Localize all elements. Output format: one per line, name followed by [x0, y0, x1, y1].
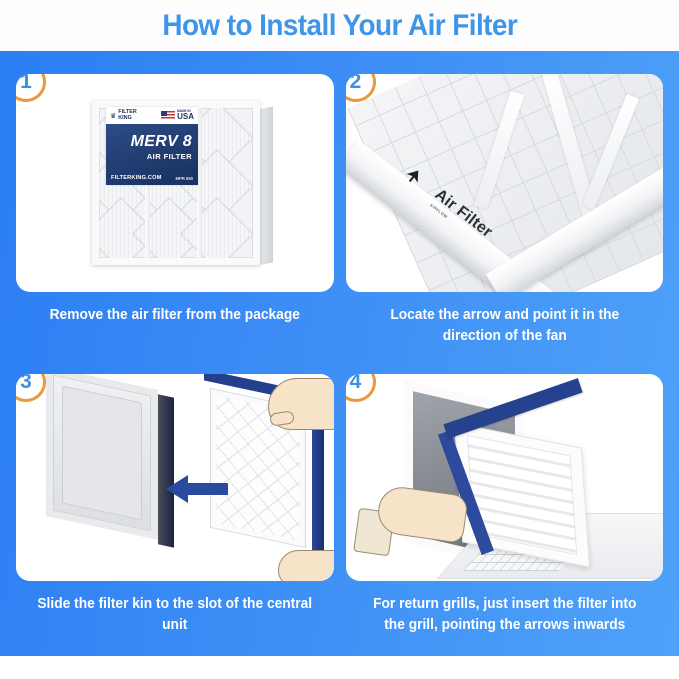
step-3-caption: Slide the filter kin to the slot of the …	[24, 594, 326, 635]
filter-product-label: ♛ FILTER KING MADE IN	[106, 107, 198, 185]
page-title: How to Install Your Air Filter	[162, 9, 517, 43]
label-subtitle: AIR FILTER	[106, 152, 192, 161]
label-brand-row: ♛ FILTER KING MADE IN	[106, 107, 198, 124]
air-filter-product-image: ♛ FILTER KING MADE IN	[92, 101, 260, 265]
central-unit-slot	[62, 385, 142, 520]
step-3-illustration	[16, 374, 334, 581]
step-4-illustration	[346, 374, 664, 581]
filter-king-logo: ♛ FILTER KING	[110, 110, 137, 121]
step-2: Air Filter AIRFLOW 2 Locate the arrow an…	[346, 74, 664, 374]
merv-rating: MERV 8	[106, 133, 192, 151]
filter-side-panel	[258, 107, 273, 266]
infographic-root: How to Install Your Air Filter	[0, 0, 679, 656]
brand-name: FILTER KING	[118, 110, 136, 121]
step-4: 4 For return grills, just insert the fil…	[346, 374, 664, 679]
label-footer-row: FILTERKING.COM MPR 650	[106, 175, 198, 181]
us-flag-icon	[161, 111, 175, 120]
step-3-card: 3	[16, 374, 334, 581]
hand-lower	[278, 550, 334, 581]
step-1: ♛ FILTER KING MADE IN	[16, 74, 334, 374]
step-2-card: Air Filter AIRFLOW 2	[346, 74, 664, 292]
step-4-caption: For return grills, just insert the filte…	[353, 594, 655, 635]
step-2-caption: Locate the arrow and point it in the dir…	[353, 305, 655, 346]
mpr-rating: MPR 650	[176, 176, 193, 181]
step-4-card: 4	[346, 374, 664, 581]
step-3: 3 Slide the filter kin to the slot of th…	[16, 374, 334, 679]
steps-grid: ♛ FILTER KING MADE IN	[0, 51, 679, 656]
central-unit-face	[46, 374, 158, 540]
made-in-usa-badge: MADE IN USA	[161, 110, 194, 121]
crown-icon: ♛	[110, 112, 116, 120]
website-text: FILTERKING.COM	[111, 175, 162, 181]
insert-direction-arrow-icon	[164, 474, 228, 509]
country-text: USA	[177, 113, 194, 121]
label-navy-panel: MERV 8 AIR FILTER FILTERKING.COM MPR 650	[106, 124, 198, 185]
header-band: How to Install Your Air Filter	[0, 0, 679, 51]
step-1-card: ♛ FILTER KING MADE IN	[16, 74, 334, 292]
brand-line-2: KING	[118, 115, 131, 121]
step-1-caption: Remove the air filter from the package	[24, 305, 326, 326]
step-1-illustration: ♛ FILTER KING MADE IN	[16, 74, 334, 292]
step-2-illustration: Air Filter AIRFLOW	[346, 74, 664, 292]
central-unit-side	[158, 394, 174, 547]
